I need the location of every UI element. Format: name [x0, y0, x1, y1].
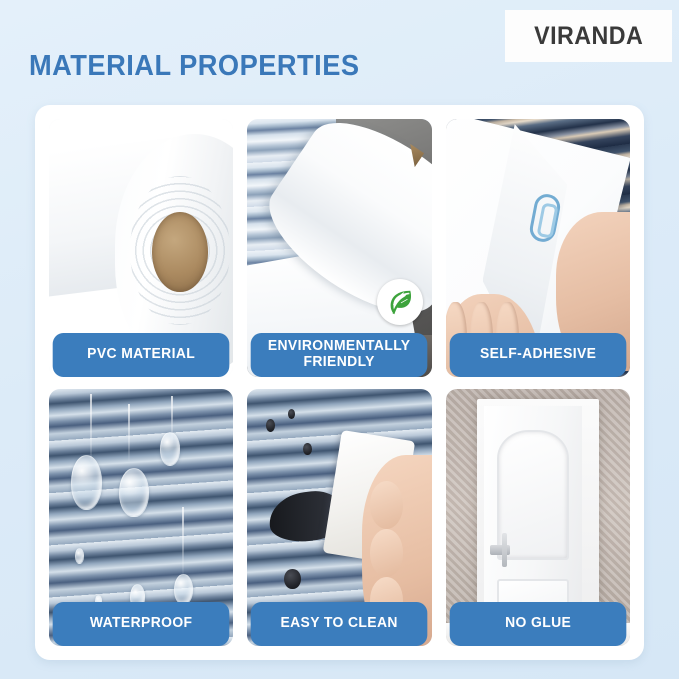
feature-cell-easy-to-clean[interactable]: EASY TO CLEAN: [247, 389, 431, 647]
page-header: MATERIAL PROPERTIES VIRANDA: [0, 0, 679, 105]
feature-cell-self-adhesive[interactable]: SELF-ADHESIVE: [446, 119, 630, 377]
feature-grid: PVC MATERIAL ENVIRONMENTALLY FRIENDLY: [49, 119, 630, 646]
door-handle-icon: [490, 545, 509, 555]
feature-card: PVC MATERIAL ENVIRONMENTALLY FRIENDLY: [35, 105, 644, 660]
leaf-icon: [377, 279, 423, 325]
brand-logo: VIRANDA: [505, 10, 672, 62]
feature-label-easy-to-clean: EASY TO CLEAN: [251, 602, 428, 646]
feature-label-environmentally-friendly: ENVIRONMENTALLY FRIENDLY: [251, 333, 428, 377]
page-title: MATERIAL PROPERTIES: [29, 50, 360, 83]
feature-label-pvc-material: PVC MATERIAL: [53, 333, 230, 377]
feature-label-self-adhesive: SELF-ADHESIVE: [449, 333, 626, 377]
feature-cell-waterproof[interactable]: WATERPROOF: [49, 389, 233, 647]
feature-cell-environmentally-friendly[interactable]: ENVIRONMENTALLY FRIENDLY: [247, 119, 431, 377]
brand-logo-text: VIRANDA: [534, 22, 643, 51]
feature-cell-no-glue[interactable]: NO GLUE: [446, 389, 630, 647]
feature-cell-pvc-material[interactable]: PVC MATERIAL: [49, 119, 233, 377]
feature-label-no-glue: NO GLUE: [449, 602, 626, 646]
feature-label-waterproof: WATERPROOF: [53, 602, 230, 646]
